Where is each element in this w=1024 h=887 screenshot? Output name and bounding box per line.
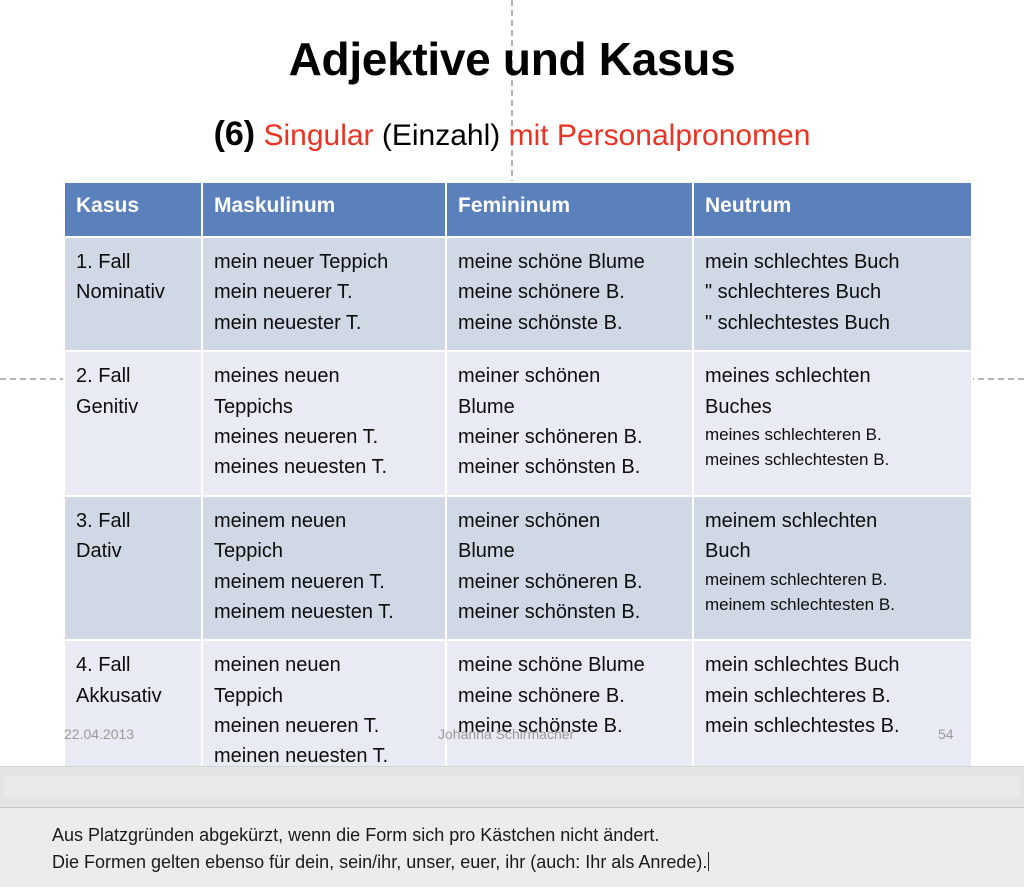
cell-kasus[interactable]: 2. FallGenitiv [64,351,202,496]
footer-date: 22.04.2013 [64,726,134,742]
cell-line: meines neuesten T. [214,452,435,482]
cell-neutrum[interactable]: mein schlechtes Buch" schlechteres Buch"… [693,237,972,351]
cell-line: mein neuerer T. [214,277,435,307]
cell-line: meinen neuen [214,650,435,680]
cell-line: meine schönste B. [458,308,682,338]
cell-kasus[interactable]: 3. FallDativ [64,496,202,641]
notes-line-2: Die Formen gelten ebenso für dein, sein/… [52,852,707,872]
cell-line: mein schlechtes Buch [705,650,961,680]
cell-line: meiner schöneren B. [458,422,682,452]
cell-line: 3. Fall [76,506,191,536]
cell-line: meinem neuen [214,506,435,536]
cell-line: Dativ [76,536,191,566]
cell-line: meiner schönen [458,506,682,536]
cell-kasus[interactable]: 4. FallAkkusativ [64,640,202,766]
cell-neutrum[interactable]: meines schlechtenBuchesmeines schlechter… [693,351,972,496]
table-row: 2. FallGenitivmeines neuenTeppichsmeines… [64,351,972,496]
cell-line: Akkusativ [76,681,191,711]
canvas-gap-shade [4,775,1020,797]
cell-line: meines neueren T. [214,422,435,452]
cell-maskulinum[interactable]: mein neuer Teppichmein neuerer T.mein ne… [202,237,446,351]
slide-subtitle[interactable]: (6) Singular (Einzahl) mit Personalprono… [0,115,1024,154]
notes-line-2-wrap: Die Formen gelten ebenso für dein, sein/… [52,849,972,876]
cell-line: meinen neuesten T. [214,741,435,766]
table-body: 1. FallNominativmein neuer Teppichmein n… [64,237,972,766]
cell-femininum[interactable]: meiner schönenBlumemeiner schöneren B.me… [446,351,693,496]
cell-line: mein schlechtestes B. [705,711,961,741]
cell-line: meines schlechtesten B. [705,447,961,473]
cell-line: meine schöne Blume [458,650,682,680]
cell-maskulinum[interactable]: meinem neuenTeppichmeinem neueren T.mein… [202,496,446,641]
cell-line: mein neuer Teppich [214,247,435,277]
cell-line: Buch [705,536,961,566]
cell-line: meiner schöneren B. [458,567,682,597]
cell-line: Genitiv [76,392,191,422]
notes-text[interactable]: Aus Platzgründen abgekürzt, wenn die For… [52,822,972,876]
column-header-maskulinum[interactable]: Maskulinum [202,182,446,237]
cell-line: meinem neueren T. [214,567,435,597]
cell-line: meine schöne Blume [458,247,682,277]
subtitle-einzahl: (Einzahl) [382,119,500,152]
cell-line: Nominativ [76,277,191,307]
cell-line: mein schlechtes Buch [705,247,961,277]
footer-page-number: 54 [938,726,954,742]
cell-line: meinem schlechtesten B. [705,592,961,618]
cell-line: Teppich [214,536,435,566]
cell-neutrum[interactable]: mein schlechtes Buchmein schlechteres B.… [693,640,972,766]
footer-author: Johanna Schirmacher [438,726,574,742]
cell-line: 4. Fall [76,650,191,680]
cell-line: 2. Fall [76,361,191,391]
notes-pane[interactable]: Aus Platzgründen abgekürzt, wenn die For… [0,807,1024,887]
cell-femininum[interactable]: meine schöne Blumemeine schönere B.meine… [446,640,693,766]
column-header-neutrum[interactable]: Neutrum [693,182,972,237]
subtitle-personalpronomen: mit Personalpronomen [509,119,811,152]
cell-line: meinem schlechteren B. [705,567,961,593]
cell-line: meine schönere B. [458,681,682,711]
cell-maskulinum[interactable]: meines neuenTeppichsmeines neueren T.mei… [202,351,446,496]
cell-line: meine schönere B. [458,277,682,307]
text-caret [708,852,709,871]
cell-line: meinem schlechten [705,506,961,536]
cell-line: meiner schönen [458,361,682,391]
cell-line: mein neuester T. [214,308,435,338]
cell-maskulinum[interactable]: meinen neuenTeppichmeinen neueren T.mein… [202,640,446,766]
cell-femininum[interactable]: meine schöne Blumemeine schönere B.meine… [446,237,693,351]
table-row: 4. FallAkkusativmeinen neuenTeppichmeine… [64,640,972,766]
cell-line: Teppich [214,681,435,711]
subtitle-singular: Singular [263,119,373,152]
cell-line: mein schlechteres B. [705,681,961,711]
subtitle-number: (6) [214,115,256,153]
column-header-femininum[interactable]: Femininum [446,182,693,237]
slide-title[interactable]: Adjektive und Kasus [0,32,1024,86]
cell-line: " schlechteres Buch [705,277,961,307]
cell-line: Teppichs [214,392,435,422]
cell-femininum[interactable]: meiner schönenBlumemeiner schöneren B.me… [446,496,693,641]
cell-line: meinem neuesten T. [214,597,435,627]
table-row: 3. FallDativmeinem neuenTeppichmeinem ne… [64,496,972,641]
table-header-row: Kasus Maskulinum Femininum Neutrum [64,182,972,237]
cell-line: " schlechtestes Buch [705,308,961,338]
column-header-kasus[interactable]: Kasus [64,182,202,237]
cell-neutrum[interactable]: meinem schlechtenBuchmeinem schlechteren… [693,496,972,641]
canvas-gap-strip [0,766,1024,807]
kasus-table[interactable]: Kasus Maskulinum Femininum Neutrum 1. Fa… [63,181,973,766]
cell-line: 1. Fall [76,247,191,277]
cell-line: Blume [458,392,682,422]
cell-line: meines neuen [214,361,435,391]
cell-line: meiner schönsten B. [458,597,682,627]
cell-line: Buches [705,392,961,422]
cell-line: meiner schönsten B. [458,452,682,482]
cell-line: meines schlechteren B. [705,422,961,448]
notes-line-1: Aus Platzgründen abgekürzt, wenn die For… [52,822,972,849]
cell-line: meinen neueren T. [214,711,435,741]
table-row: 1. FallNominativmein neuer Teppichmein n… [64,237,972,351]
cell-line: meines schlechten [705,361,961,391]
cell-kasus[interactable]: 1. FallNominativ [64,237,202,351]
presentation-editor: Adjektive und Kasus (6) Singular (Einzah… [0,0,1024,887]
slide-canvas[interactable]: Adjektive und Kasus (6) Singular (Einzah… [0,0,1024,766]
cell-line: Blume [458,536,682,566]
